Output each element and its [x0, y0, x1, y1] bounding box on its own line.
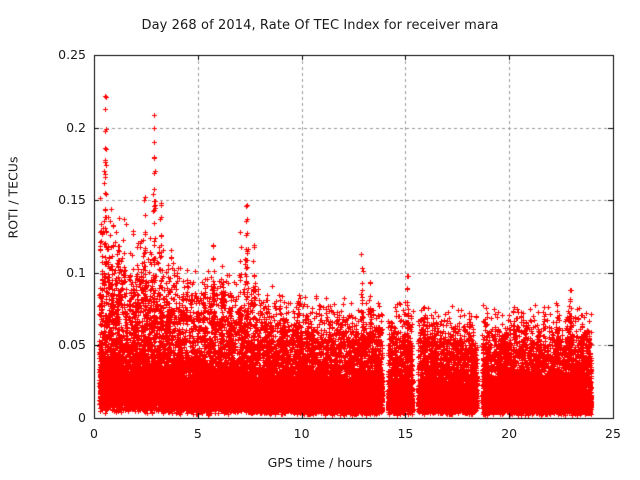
x-tick-label: 20 — [469, 426, 549, 441]
plot-figure: Day 268 of 2014, Rate Of TEC Index for r… — [0, 0, 640, 480]
x-tick-label: 0 — [54, 426, 134, 441]
y-tick-label: 0.25 — [2, 47, 86, 62]
page-title: Day 268 of 2014, Rate Of TEC Index for r… — [0, 18, 640, 33]
x-axis-label: GPS time / hours — [0, 455, 640, 470]
x-tick-label: 15 — [365, 426, 445, 441]
x-tick-label: 10 — [262, 426, 342, 441]
y-tick-label: 0 — [2, 410, 86, 425]
y-tick-label: 0.1 — [2, 265, 86, 280]
x-tick-label: 25 — [573, 426, 640, 441]
roti-scatter-canvas — [0, 0, 640, 480]
y-tick-label: 0.2 — [2, 120, 86, 135]
y-tick-label: 0.05 — [2, 337, 86, 352]
y-tick-label: 0.15 — [2, 192, 86, 207]
x-tick-label: 5 — [158, 426, 238, 441]
